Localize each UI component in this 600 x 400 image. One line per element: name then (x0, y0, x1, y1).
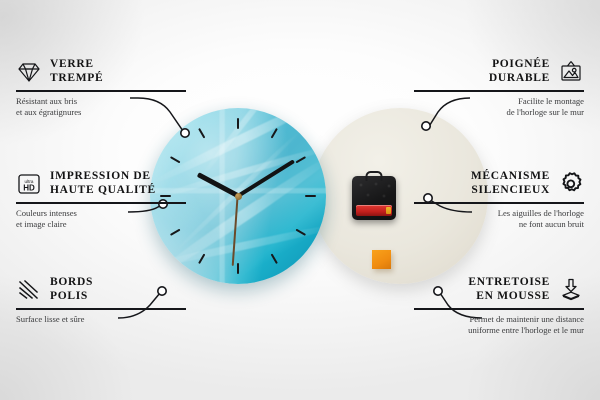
diagonal-lines-icon (16, 277, 42, 303)
feature-title: MÉCANISME SILENCIEUX (471, 170, 550, 197)
feature-desc-line: uniforme entre l'horloge et le mur (414, 325, 584, 336)
feature-title-line: DURABLE (489, 72, 550, 86)
feature-description: Permet de maintenir une distance uniform… (414, 314, 584, 337)
feature-header: VERRE TREMPÉ (16, 58, 186, 85)
picture-hanger-icon (558, 59, 584, 85)
feature-bords-polis: BORDS POLIS Surface lisse et sûre (16, 276, 186, 325)
mechanism-hanger-tab (366, 171, 383, 181)
clock-center-pin (235, 193, 242, 200)
feature-description: Facilite le montage de l'horloge sur le … (414, 96, 584, 119)
feature-impression-haute-qualite: ultra HD IMPRESSION DE HAUTE QUALITÉ Cou… (16, 170, 186, 230)
feature-title-line: IMPRESSION DE (50, 170, 156, 184)
arrow-layers-icon (558, 277, 584, 303)
feature-header: MÉCANISME SILENCIEUX (414, 170, 584, 197)
feature-desc-line: de l'horloge sur le mur (414, 107, 584, 118)
feature-desc-line: et aux égratignures (16, 107, 186, 118)
feature-header: POIGNÉE DURABLE (414, 58, 584, 85)
feature-title: POIGNÉE DURABLE (489, 58, 550, 85)
feature-title-line: EN MOUSSE (468, 290, 550, 304)
feature-desc-line: et image claire (16, 219, 186, 230)
feature-title-line: POIGNÉE (489, 58, 550, 72)
divider (414, 308, 584, 309)
feature-title-line: BORDS (50, 276, 93, 290)
divider (414, 90, 584, 91)
feature-desc-line: Facilite le montage (414, 96, 584, 107)
feature-title: VERRE TREMPÉ (50, 58, 103, 85)
feature-description: Couleurs intenses et image claire (16, 208, 186, 231)
feature-desc-line: Couleurs intenses (16, 208, 186, 219)
feature-entretoise-en-mousse: ENTRETOISE EN MOUSSE Permet de maintenir… (414, 276, 584, 336)
feature-title-line: POLIS (50, 290, 93, 304)
feature-description: Surface lisse et sûre (16, 314, 186, 325)
feature-poignee-durable: POIGNÉE DURABLE Facilite le montage de l… (414, 58, 584, 118)
feature-description: Résistant aux bris et aux égratignures (16, 96, 186, 119)
feature-desc-line: Résistant aux bris (16, 96, 186, 107)
feature-header: ultra HD IMPRESSION DE HAUTE QUALITÉ (16, 170, 186, 197)
feature-desc-line: Les aiguilles de l'horloge (414, 208, 584, 219)
infographic-canvas: VERRE TREMPÉ Résistant aux bris et aux é… (0, 0, 600, 400)
feature-title-line: MÉCANISME (471, 170, 550, 184)
gear-icon (558, 171, 584, 197)
feature-title-line: ENTRETOISE (468, 276, 550, 290)
feature-title-line: VERRE (50, 58, 103, 72)
battery (356, 205, 392, 216)
feature-title-line: HAUTE QUALITÉ (50, 184, 156, 198)
divider (16, 202, 186, 203)
feature-title-line: TREMPÉ (50, 72, 103, 86)
feature-verre-trempe: VERRE TREMPÉ Résistant aux bris et aux é… (16, 58, 186, 118)
mechanism-detail (356, 181, 392, 201)
feature-desc-line: Permet de maintenir une distance (414, 314, 584, 325)
feature-title: BORDS POLIS (50, 276, 93, 303)
svg-text:HD: HD (23, 183, 35, 192)
clock-tick (237, 118, 239, 196)
feature-header: BORDS POLIS (16, 276, 186, 303)
ultra-hd-icon: ultra HD (16, 171, 42, 197)
feature-title: IMPRESSION DE HAUTE QUALITÉ (50, 170, 156, 197)
feature-mecanisme-silencieux: MÉCANISME SILENCIEUX Les aiguilles de l'… (414, 170, 584, 230)
divider (16, 308, 186, 309)
clock-tick (238, 195, 316, 197)
feature-header: ENTRETOISE EN MOUSSE (414, 276, 584, 303)
diamond-icon (16, 59, 42, 85)
divider (16, 90, 186, 91)
feature-desc-line: ne font aucun bruit (414, 219, 584, 230)
clock-mechanism (352, 176, 396, 220)
feature-title: ENTRETOISE EN MOUSSE (468, 276, 550, 303)
feature-desc-line: Surface lisse et sûre (16, 314, 186, 325)
divider (414, 202, 584, 203)
feature-title-line: SILENCIEUX (471, 184, 550, 198)
feature-description: Les aiguilles de l'horloge ne font aucun… (414, 208, 584, 231)
foam-spacer (372, 250, 391, 269)
